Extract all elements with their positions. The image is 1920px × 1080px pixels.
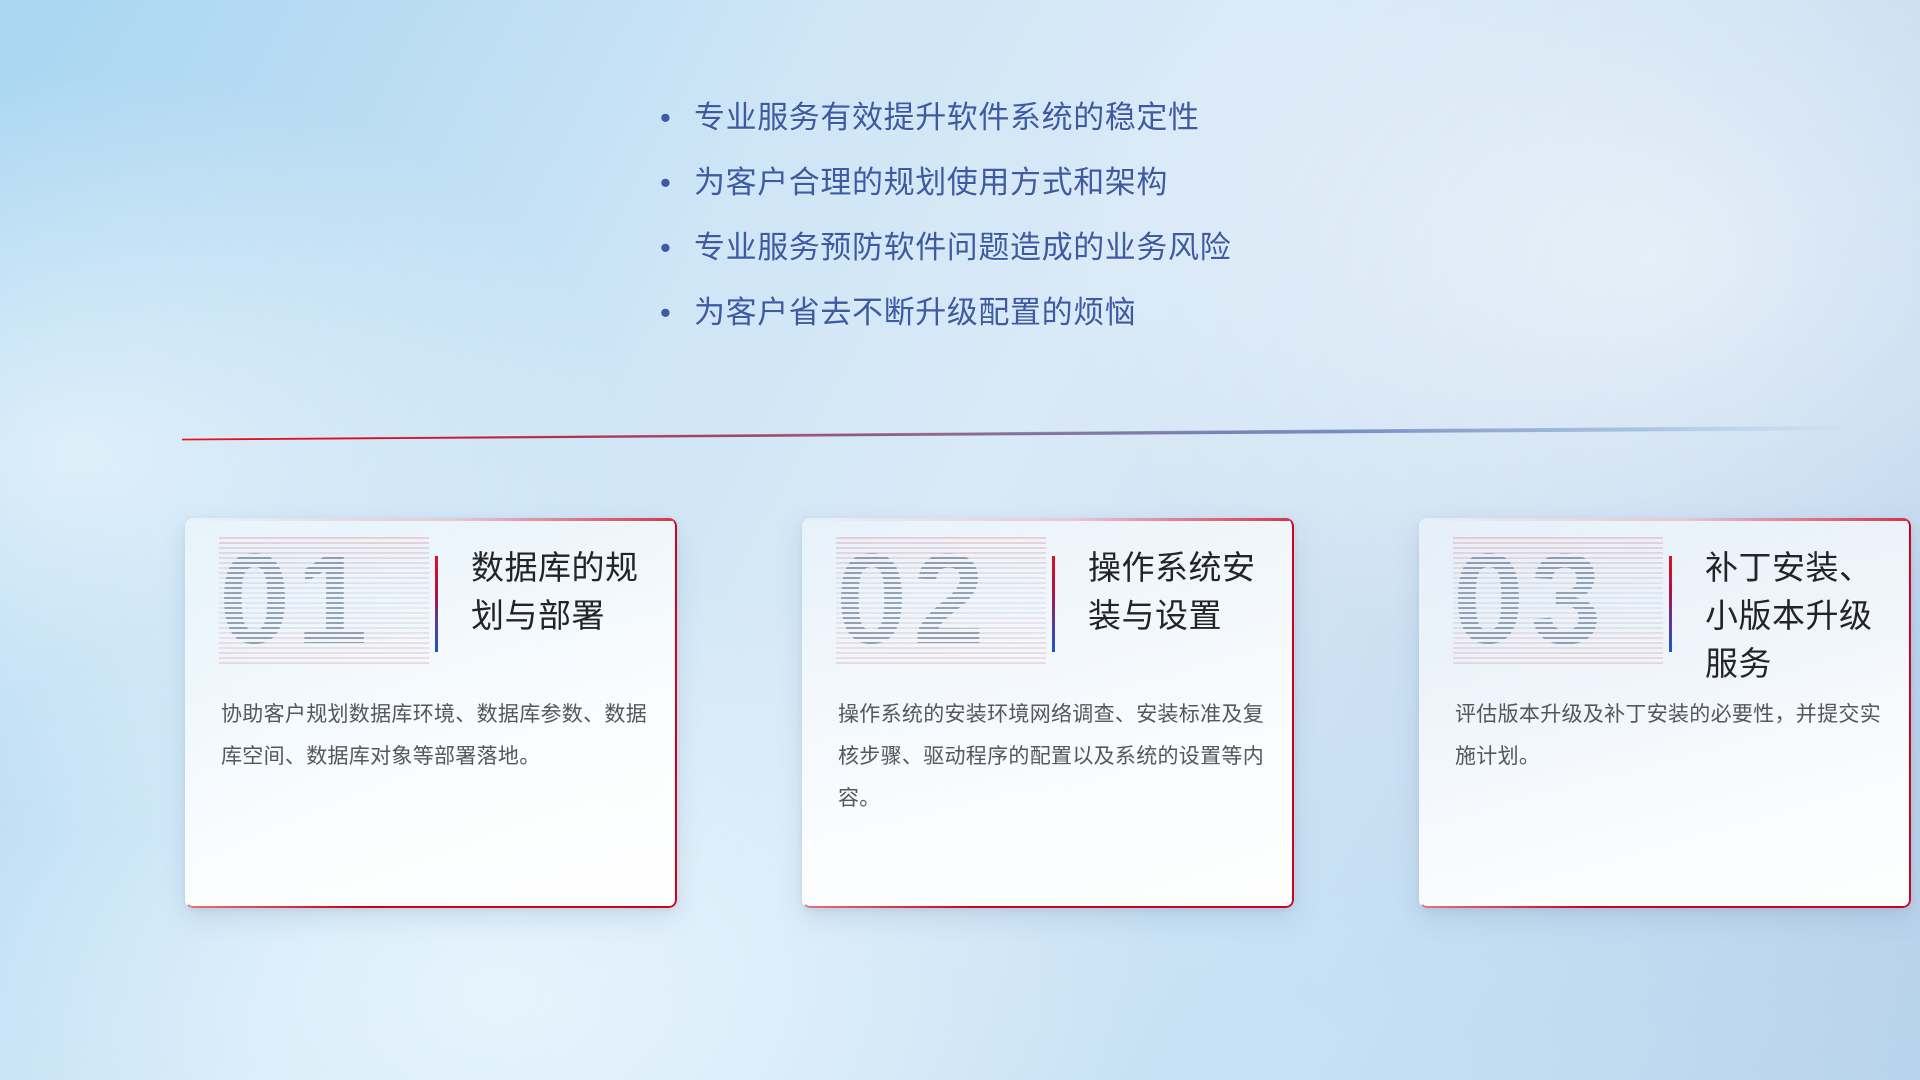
feature-card[interactable]: 02 操作系统安装与设置 操作系统的安装环境网络调查、安装标准及复核步骤、驱动程… (802, 518, 1294, 908)
feature-card[interactable]: 03 补丁安装、小版本升级服务 评估版本升级及补丁安装的必要性，并提交实施计划。 (1419, 518, 1911, 908)
card-title: 操作系统安装与设置 (1088, 544, 1270, 640)
bullet-text: 专业服务预防软件问题造成的业务风险 (694, 226, 1420, 269)
bullet-list: • 专业服务有效提升软件系统的稳定性 • 为客户合理的规划使用方式和架构 • 专… (660, 96, 1420, 356)
bullet-text: 为客户省去不断升级配置的烦恼 (694, 291, 1420, 334)
card-title: 数据库的规划与部署 (471, 544, 653, 640)
bullet-text: 专业服务有效提升软件系统的稳定性 (694, 96, 1420, 139)
feature-card-group: 01 数据库的规划与部署 协助客户规划数据库环境、数据库参数、数据库空间、数据库… (185, 518, 1915, 918)
card-body-text: 评估版本升级及补丁安装的必要性，并提交实施计划。 (1455, 694, 1881, 778)
bullet-marker-icon: • (660, 291, 694, 334)
bullet-marker-icon: • (660, 161, 694, 204)
bullet-text: 为客户合理的规划使用方式和架构 (694, 161, 1420, 204)
card-number-watermark: 03 (1453, 536, 1663, 664)
card-number-watermark: 02 (836, 536, 1046, 664)
card-number-watermark: 01 (219, 536, 429, 664)
list-item: • 专业服务有效提升软件系统的稳定性 (660, 96, 1420, 139)
bullet-marker-icon: • (660, 96, 694, 139)
list-item: • 为客户省去不断升级配置的烦恼 (660, 291, 1420, 334)
card-title: 补丁安装、小版本升级服务 (1705, 544, 1887, 688)
list-item: • 专业服务预防软件问题造成的业务风险 (660, 226, 1420, 269)
feature-card[interactable]: 01 数据库的规划与部署 协助客户规划数据库环境、数据库参数、数据库空间、数据库… (185, 518, 677, 908)
card-body-text: 操作系统的安装环境网络调查、安装标准及复核步骤、驱动程序的配置以及系统的设置等内… (838, 694, 1264, 820)
card-header: 01 数据库的规划与部署 (185, 518, 677, 670)
bullet-marker-icon: • (660, 226, 694, 269)
card-header: 02 操作系统安装与设置 (802, 518, 1294, 670)
card-title-divider-bar (1669, 556, 1672, 652)
divider-shape-icon (182, 425, 1842, 441)
list-item: • 为客户合理的规划使用方式和架构 (660, 161, 1420, 204)
card-title-divider-bar (435, 556, 438, 652)
card-title-divider-bar (1052, 556, 1055, 652)
section-divider (182, 425, 1842, 441)
card-header: 03 补丁安装、小版本升级服务 (1419, 518, 1911, 670)
card-body-text: 协助客户规划数据库环境、数据库参数、数据库空间、数据库对象等部署落地。 (221, 694, 647, 778)
